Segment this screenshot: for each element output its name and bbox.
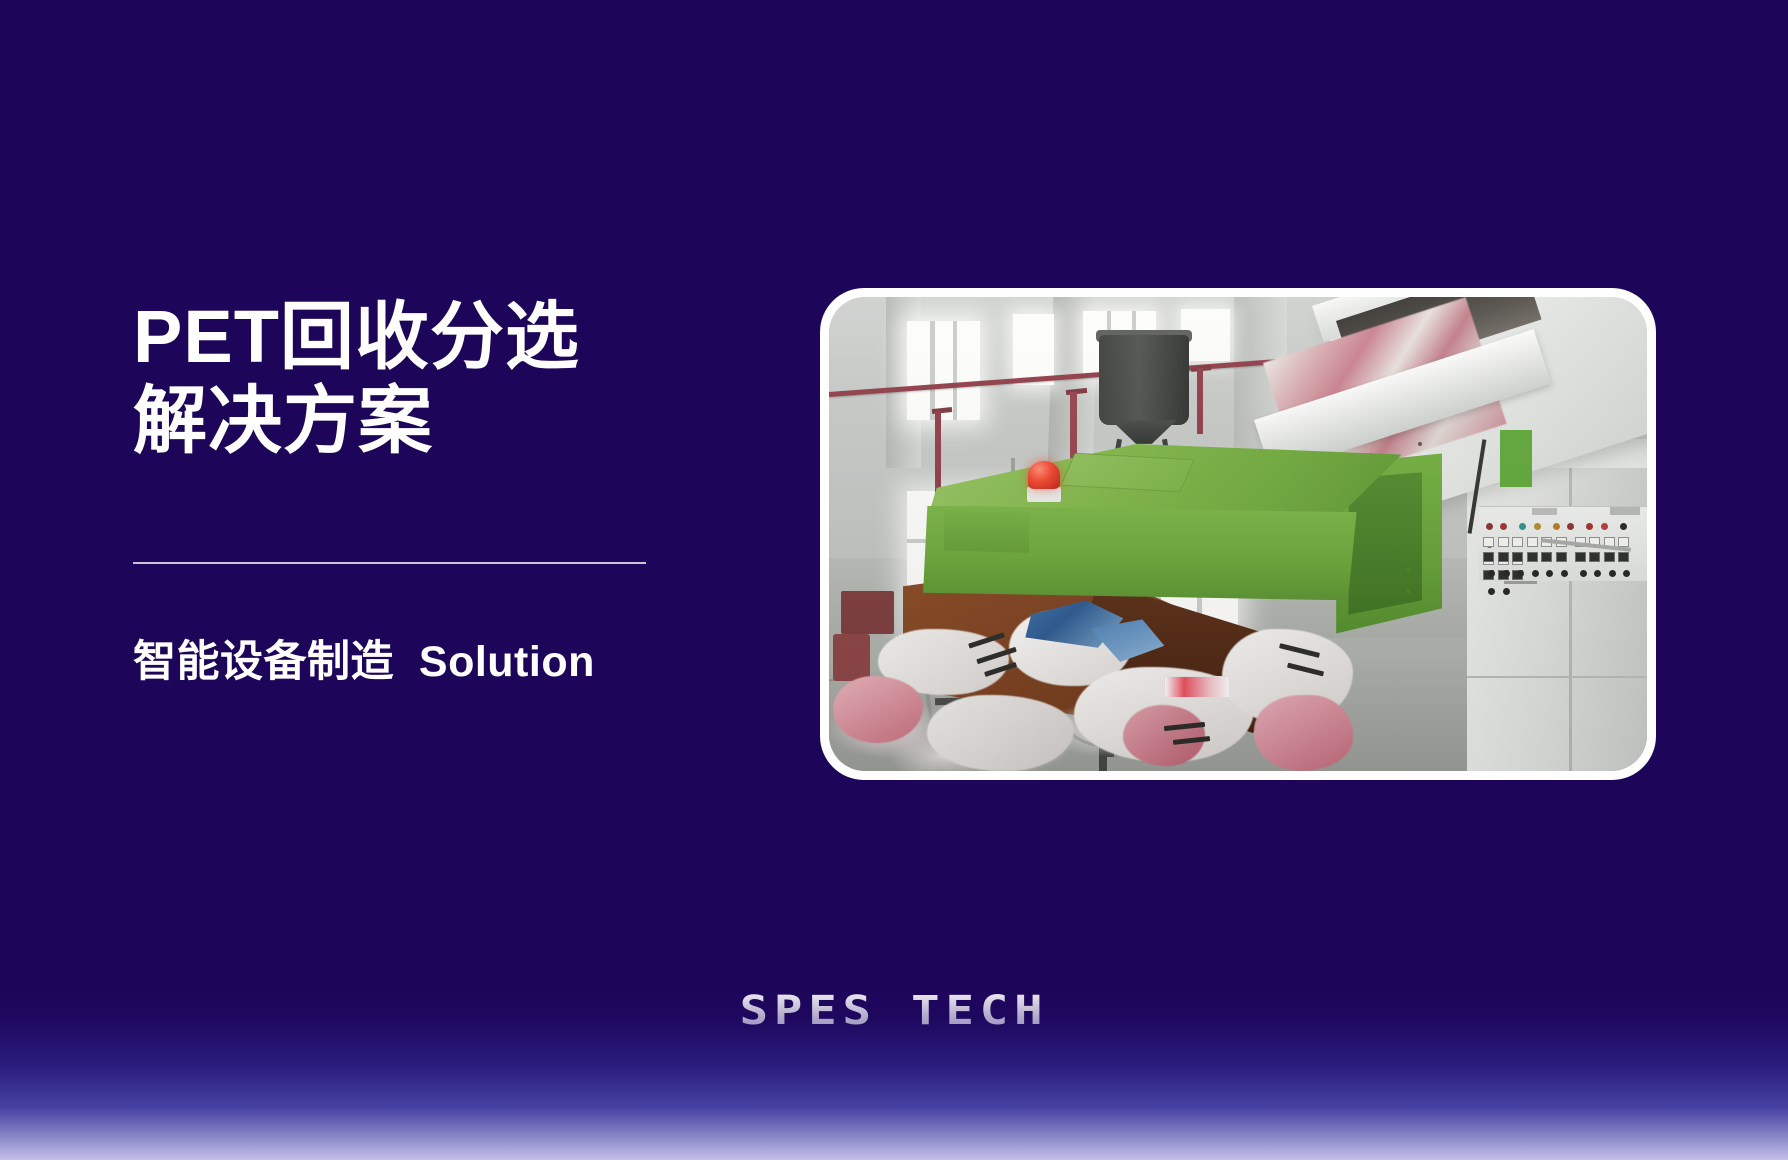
page-title: PET回收分选 解决方案 bbox=[133, 295, 733, 464]
conveyor-rivet bbox=[1418, 442, 1422, 446]
green-hopper-rivet bbox=[1406, 589, 1411, 594]
indicator-light-row bbox=[1486, 518, 1646, 530]
clerestory-window bbox=[907, 321, 981, 421]
pink-plastic-waste bbox=[1123, 705, 1205, 767]
green-hopper-opening bbox=[944, 510, 1030, 553]
pink-plastic-waste bbox=[1254, 695, 1352, 771]
plastic-bag bbox=[927, 695, 1074, 771]
control-panel-label bbox=[1610, 507, 1639, 514]
control-panel-label bbox=[1532, 508, 1557, 515]
conveyor-green-panel bbox=[1500, 430, 1533, 487]
panel-button-row[interactable] bbox=[1488, 564, 1647, 575]
cabinet-door-seam bbox=[1467, 676, 1647, 678]
panel-handle bbox=[1504, 581, 1537, 584]
title-divider bbox=[133, 562, 646, 564]
green-hopper-rivet bbox=[1406, 567, 1411, 572]
hero-photo-card bbox=[820, 288, 1656, 780]
pipe-downcomer bbox=[1197, 368, 1203, 434]
storage-tank bbox=[1099, 335, 1189, 425]
hero-photo bbox=[829, 297, 1647, 771]
window-mullion bbox=[953, 321, 958, 421]
title-block: PET回收分选 解决方案 智能设备制造 Solution bbox=[133, 295, 733, 689]
window-mullion bbox=[930, 321, 935, 421]
product-label bbox=[1164, 676, 1229, 697]
slide-root: PET回收分选 解决方案 智能设备制造 Solution bbox=[0, 0, 1788, 1160]
clerestory-window bbox=[1013, 314, 1054, 385]
warning-beacon-icon bbox=[1028, 461, 1061, 489]
brand-logo: SPES TECH bbox=[0, 988, 1788, 1034]
subtitle: 智能设备制造 Solution bbox=[133, 627, 733, 689]
green-hopper-hatch bbox=[1060, 453, 1195, 493]
